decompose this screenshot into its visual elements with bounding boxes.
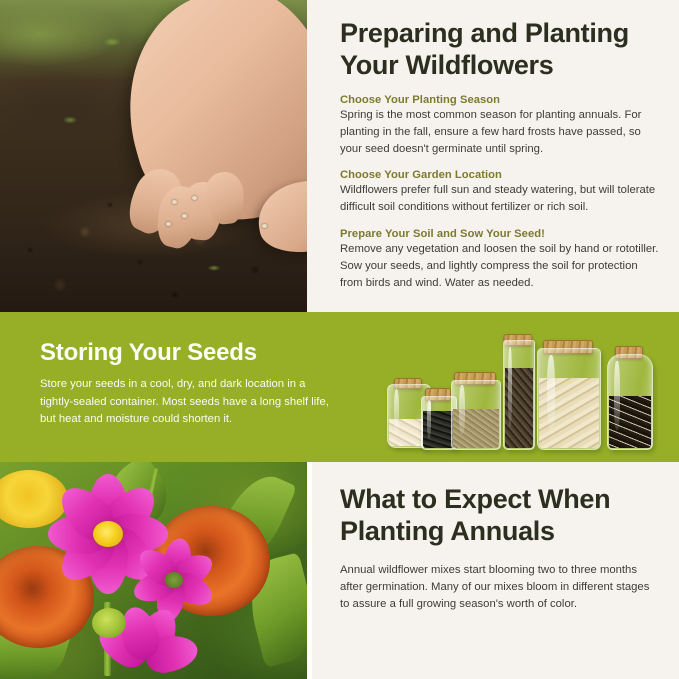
subheading-garden-location: Choose Your Garden Location: [340, 169, 661, 181]
section2-heading: Storing Your Seeds: [40, 340, 330, 366]
jar-glass: [451, 380, 501, 450]
seed-jar-tall-dark: [503, 334, 533, 450]
glass-highlight: [459, 385, 465, 435]
infographic-page: Preparing and Planting Your Wildflowers …: [0, 0, 679, 679]
body-garden-location: Wildflowers prefer full sun and steady w…: [340, 182, 661, 216]
seed-jars-photo: [385, 332, 670, 450]
flower-center: [93, 521, 123, 547]
glass-highlight: [614, 361, 620, 431]
seed-speck: [192, 196, 197, 200]
subheading-prepare-soil: Prepare Your Soil and Sow Your Seed!: [340, 228, 661, 240]
flower-center: [165, 572, 183, 588]
page-title: Preparing and Planting Your Wildflowers: [340, 18, 661, 82]
section3-heading: What to Expect When Planting Annuals: [340, 484, 657, 548]
section-preparing-and-planting: Preparing and Planting Your Wildflowers …: [0, 0, 679, 312]
subheading-planting-season: Choose Your Planting Season: [340, 94, 661, 106]
seed-speck: [166, 222, 171, 226]
jar-glass: [503, 340, 535, 450]
flowers-photo: [0, 462, 307, 679]
seed-speck: [182, 214, 187, 218]
section1-text-panel: Preparing and Planting Your Wildflowers …: [312, 0, 679, 312]
body-prepare-soil: Remove any vegetation and loosen the soi…: [340, 241, 661, 292]
glass-highlight: [508, 347, 512, 427]
seed-jar-striped: [607, 346, 651, 450]
glass-highlight: [427, 400, 431, 438]
seed-speck: [172, 200, 177, 204]
jar-glass: [537, 348, 601, 450]
seed-jar-black: [421, 388, 455, 450]
body-planting-season: Spring is the most common season for pla…: [340, 107, 661, 158]
seed-jar-brown: [451, 372, 499, 450]
section2-text-block: Storing Your Seeds Store your seeds in a…: [40, 340, 330, 429]
seed-speck: [262, 224, 267, 228]
section3-text-panel: What to Expect When Planting Annuals Ann…: [312, 462, 679, 679]
soil-planting-photo: [0, 0, 307, 312]
jar-glass: [607, 354, 653, 450]
glass-highlight: [547, 355, 555, 429]
section-what-to-expect: What to Expect When Planting Annuals Ann…: [0, 462, 679, 679]
section3-body: Annual wildflower mixes start blooming t…: [340, 562, 657, 613]
flower-bud: [92, 608, 126, 638]
section2-body: Store your seeds in a cool, dry, and dar…: [40, 376, 330, 429]
seed-jar-cream: [537, 340, 599, 450]
glass-highlight: [394, 389, 399, 435]
